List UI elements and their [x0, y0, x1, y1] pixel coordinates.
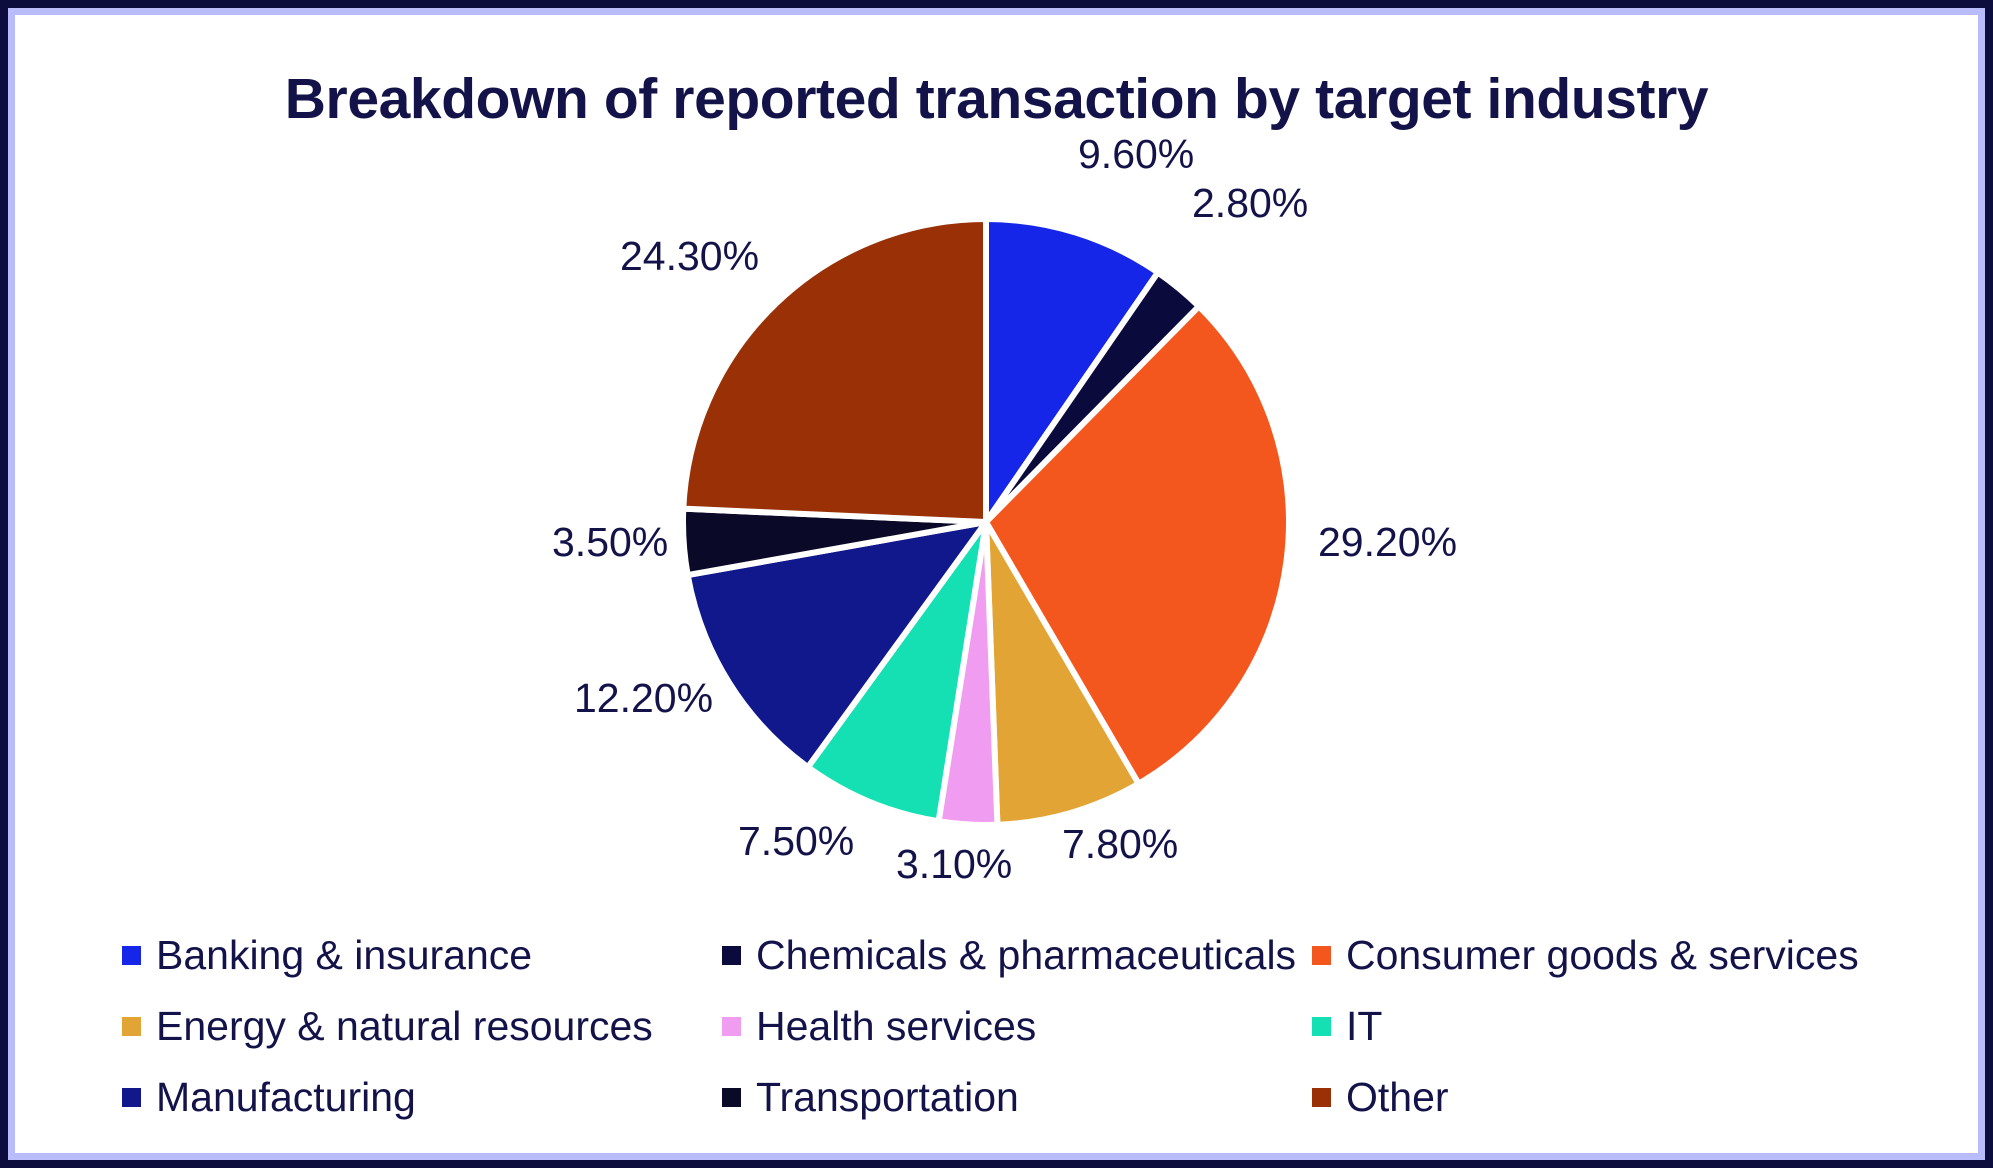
legend-swatch-icon: [1312, 1088, 1331, 1107]
data-label-manufacturing: 12.20%: [574, 675, 713, 722]
legend-item-label: Energy & natural resources: [156, 1006, 653, 1047]
legend-item[interactable]: Other: [1312, 1077, 1882, 1118]
legend-item[interactable]: Energy & natural resources: [122, 1006, 722, 1047]
data-label-chemicals: 2.80%: [1192, 180, 1308, 227]
chart-legend: Banking & insuranceChemicals & pharmaceu…: [122, 920, 1882, 1133]
legend-swatch-icon: [1312, 1017, 1331, 1036]
legend-item[interactable]: Chemicals & pharmaceuticals: [722, 935, 1312, 976]
legend-item-label: Chemicals & pharmaceuticals: [756, 935, 1296, 976]
legend-item[interactable]: Consumer goods & services: [1312, 935, 1882, 976]
legend-item[interactable]: IT: [1312, 1006, 1882, 1047]
legend-item-label: Transportation: [756, 1077, 1019, 1118]
legend-item[interactable]: Health services: [722, 1006, 1312, 1047]
legend-swatch-icon: [722, 1017, 741, 1036]
pie-chart: [676, 212, 1296, 832]
legend-item-label: Health services: [756, 1006, 1036, 1047]
legend-item-label: Consumer goods & services: [1346, 935, 1859, 976]
legend-swatch-icon: [122, 1088, 141, 1107]
legend-item-label: Manufacturing: [156, 1077, 416, 1118]
data-label-transportation: 3.50%: [552, 519, 668, 566]
pie-svg: [676, 212, 1296, 832]
legend-swatch-icon: [1312, 946, 1331, 965]
legend-item[interactable]: Transportation: [722, 1077, 1312, 1118]
data-label-it: 7.50%: [738, 818, 854, 865]
legend-item-label: Banking & insurance: [156, 935, 532, 976]
legend-item[interactable]: Manufacturing: [122, 1077, 722, 1118]
data-label-consumer: 29.20%: [1318, 519, 1457, 566]
chart-page: Breakdown of reported transaction by tar…: [0, 0, 1993, 1168]
data-label-other: 24.30%: [620, 233, 759, 280]
legend-swatch-icon: [722, 946, 741, 965]
legend-swatch-icon: [122, 946, 141, 965]
data-label-banking: 9.60%: [1078, 131, 1194, 178]
page-title: Breakdown of reported transaction by tar…: [0, 66, 1993, 132]
legend-item[interactable]: Banking & insurance: [122, 935, 722, 976]
data-label-energy: 7.80%: [1062, 821, 1178, 868]
data-label-health: 3.10%: [896, 841, 1012, 888]
legend-swatch-icon: [122, 1017, 141, 1036]
legend-swatch-icon: [722, 1088, 741, 1107]
legend-item-label: Other: [1346, 1077, 1449, 1118]
legend-item-label: IT: [1346, 1006, 1382, 1047]
